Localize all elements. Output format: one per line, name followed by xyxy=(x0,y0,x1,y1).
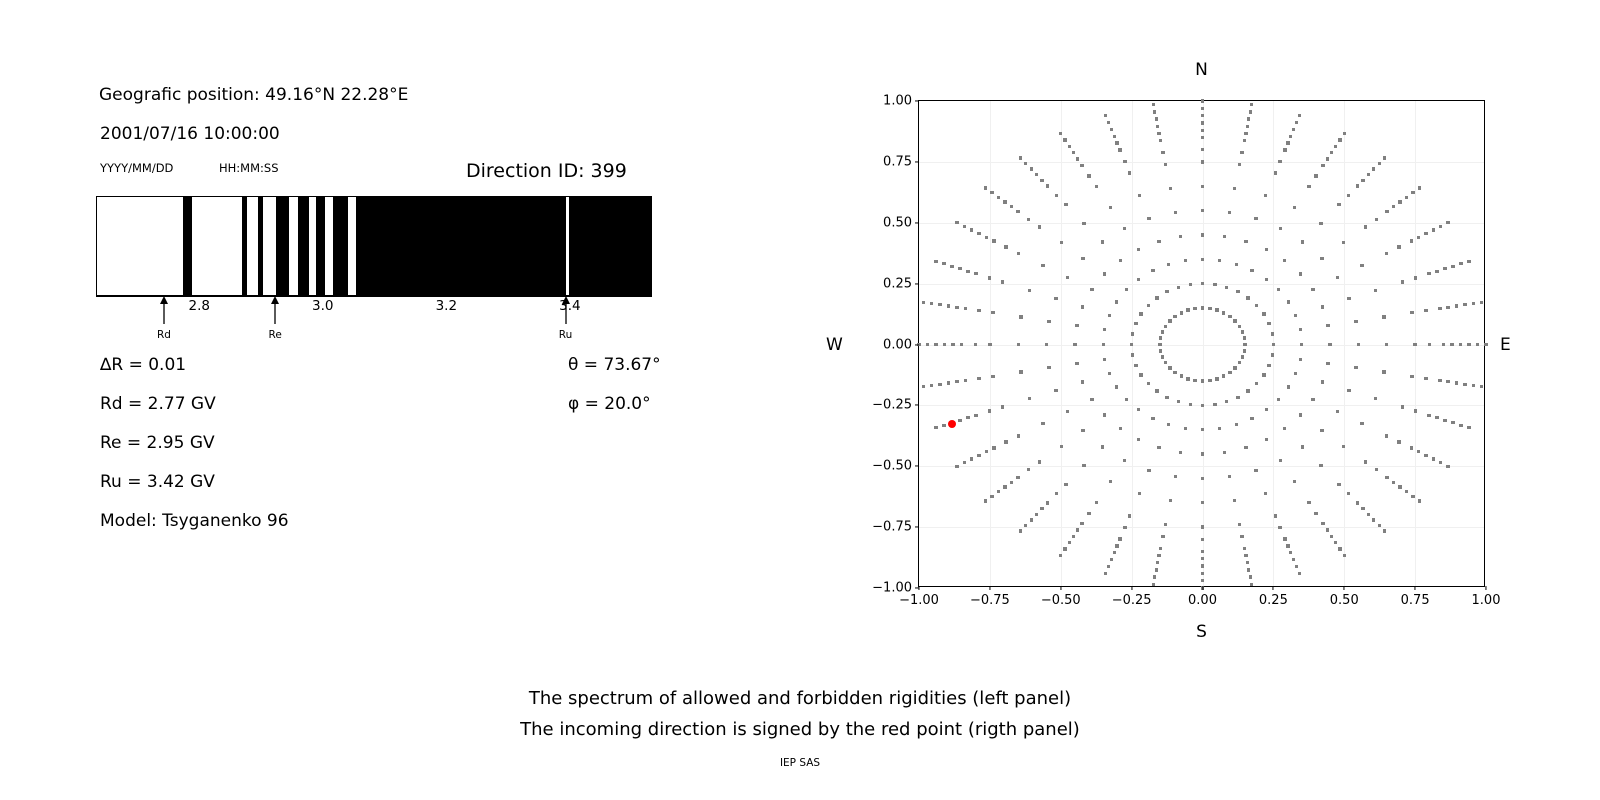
x-tick-label: 1.00 xyxy=(1472,593,1501,608)
param-phi: φ = 20.0° xyxy=(568,394,651,414)
incoming-direction-layer xyxy=(919,101,1484,586)
x-tick-label: 0.50 xyxy=(1330,593,1359,608)
marker-arrow-rd-icon xyxy=(158,296,170,324)
x-tick-mark xyxy=(1131,586,1132,590)
x-tick-label: −0.25 xyxy=(1112,593,1152,608)
forbidden-band xyxy=(258,197,264,295)
credit-label: IEP SAS xyxy=(0,757,1600,769)
incoming-direction-point[interactable] xyxy=(948,420,956,428)
compass-south-label: S xyxy=(918,622,1485,642)
y-tick-label: −0.25 xyxy=(872,398,912,413)
x-tick-mark xyxy=(1344,586,1345,590)
direction-point xyxy=(1484,343,1487,346)
y-tick-label: 0.50 xyxy=(883,215,912,230)
date-format-hint: YYYY/MM/DD xyxy=(100,161,173,175)
param-delta-r: ∆R = 0.01 xyxy=(100,355,186,375)
x-tick-label: 0.25 xyxy=(1259,593,1288,608)
direction-id-label: Direction ID: 399 xyxy=(466,160,627,182)
param-ru: Ru = 3.42 GV xyxy=(100,472,215,492)
marker-arrow-ru-icon xyxy=(560,296,572,324)
x-tick-label: 0.00 xyxy=(1188,593,1217,608)
caption-line-2: The incoming direction is signed by the … xyxy=(0,719,1600,740)
geographic-position-label: Geografic position: 49.16°N 22.28°E xyxy=(99,85,408,105)
x-tick-label: −0.75 xyxy=(970,593,1010,608)
x-tick-mark xyxy=(1202,586,1203,590)
x-tick-mark xyxy=(989,586,990,590)
y-tick-label: −0.50 xyxy=(872,459,912,474)
x-tick-mark xyxy=(1415,586,1416,590)
y-tick-label: 0.75 xyxy=(883,154,912,169)
time-format-hint: HH:MM:SS xyxy=(219,161,279,175)
param-re: Re = 2.95 GV xyxy=(100,433,215,453)
x-tick-label: −1.00 xyxy=(899,593,939,608)
direction-scatter-plot: −1.00−0.75−0.50−0.250.000.250.500.751.00… xyxy=(918,100,1485,587)
x-tick-label: −0.50 xyxy=(1041,593,1081,608)
forbidden-band xyxy=(333,197,348,295)
forbidden-band xyxy=(242,197,247,295)
datetime-label: 2001/07/16 10:00:00 xyxy=(100,124,280,144)
marker-label-rd: Rd xyxy=(157,329,171,341)
x-tick-label: 0.75 xyxy=(1401,593,1430,608)
compass-east-label: E xyxy=(1500,335,1511,355)
compass-west-label: W xyxy=(826,335,843,355)
x-tick-mark xyxy=(1485,586,1486,590)
rigidity-spectrum-panel xyxy=(96,196,652,296)
param-model: Model: Tsyganenko 96 xyxy=(100,511,289,531)
rigidity-tick-label: 3.2 xyxy=(436,298,457,314)
y-tick-label: 0.25 xyxy=(883,276,912,291)
x-tick-mark xyxy=(918,586,919,590)
caption-line-1: The spectrum of allowed and forbidden ri… xyxy=(0,688,1600,709)
param-rd: Rd = 2.77 GV xyxy=(100,394,216,414)
param-theta: θ = 73.67° xyxy=(568,355,661,375)
rigidity-tick-label: 2.8 xyxy=(188,298,209,314)
forbidden-band xyxy=(276,197,289,295)
x-tick-mark xyxy=(1273,586,1274,590)
forbidden-band xyxy=(183,197,192,295)
right-panel: N S W E −1.00−0.75−0.50−0.250.000.250.50… xyxy=(800,0,1600,800)
forbidden-band xyxy=(356,197,567,295)
x-tick-mark xyxy=(1060,586,1061,590)
forbidden-band xyxy=(569,197,652,295)
rigidity-tick-label: 3.0 xyxy=(312,298,333,314)
rigidity-spectrum-bar xyxy=(96,196,652,296)
marker-label-ru: Ru xyxy=(559,329,572,341)
y-tick-label: 1.00 xyxy=(883,94,912,109)
marker-label-re: Re xyxy=(268,329,281,341)
compass-north-label: N xyxy=(918,60,1485,80)
forbidden-band xyxy=(316,197,325,295)
forbidden-band xyxy=(298,197,309,295)
y-tick-label: −0.75 xyxy=(872,520,912,535)
y-tick-label: 0.00 xyxy=(883,337,912,352)
rigidity-axis: 2.83.03.23.4RdReRu xyxy=(96,296,652,356)
marker-arrow-re-icon xyxy=(269,296,281,324)
left-panel: Geografic position: 49.16°N 22.28°E 2001… xyxy=(0,0,800,800)
